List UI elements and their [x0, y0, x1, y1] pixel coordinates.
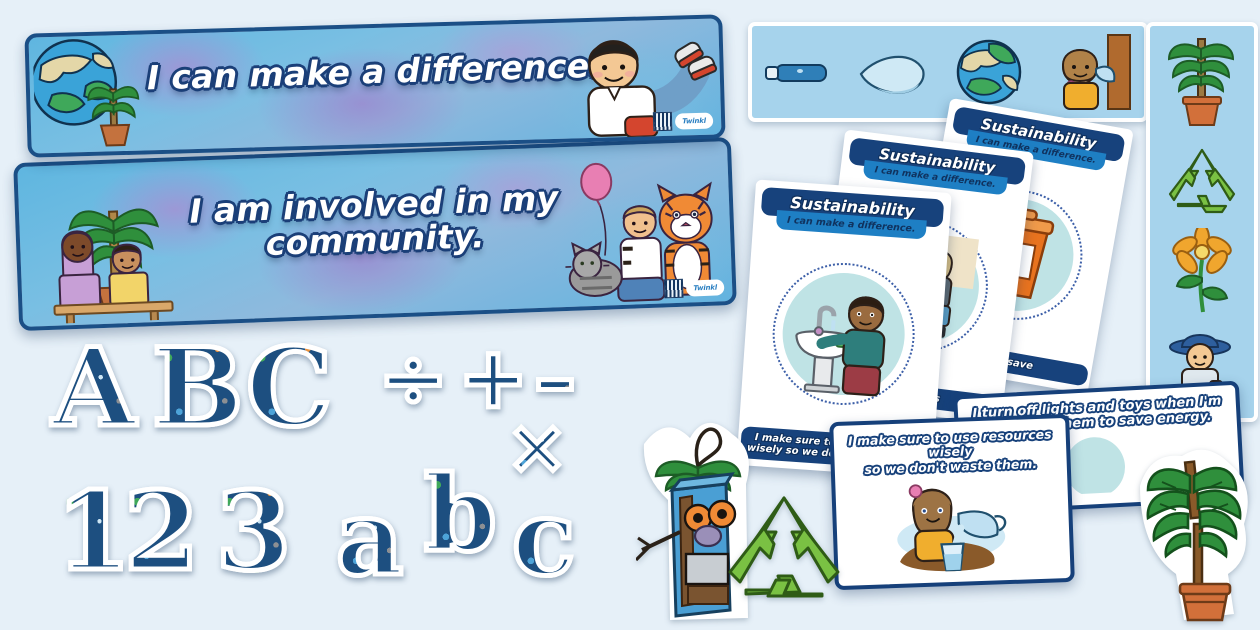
- letter-tile-c-lower[interactable]: c c: [512, 486, 575, 590]
- twinkl-branding-one: Twinkl: [653, 111, 714, 132]
- letter-tile-b-lower[interactable]: b b: [424, 462, 497, 566]
- twinkl-logo: Twinkl: [686, 279, 725, 296]
- girl-pouring-water-icon: [1046, 33, 1132, 111]
- letter-tile-C[interactable]: C C: [246, 334, 332, 442]
- qr-code-icon: [653, 112, 673, 132]
- banner-difference[interactable]: I can make a difference.: [24, 14, 725, 157]
- earth-globe-icon: [955, 38, 1023, 106]
- yellow-flower-icon: [1167, 228, 1237, 314]
- banner-community[interactable]: I am involved in my community.: [13, 137, 737, 331]
- symbol-tile-multiply[interactable]: × ×: [506, 410, 568, 484]
- twinkl-logo: Twinkl: [675, 112, 713, 129]
- display-canvas: I am involved in my community.: [0, 0, 1260, 630]
- water-droplet-icon: [857, 44, 931, 100]
- poster-artwork: [739, 227, 948, 439]
- symbol-tile-divide[interactable]: ÷ ÷: [378, 336, 448, 420]
- girl-pouring-water-spill-icon: [865, 471, 1037, 581]
- potted-plant-icon: [1163, 33, 1241, 129]
- water-bottle-icon: [764, 52, 834, 92]
- letter-tile-a-lower[interactable]: a a: [336, 486, 403, 590]
- letter-tile-B[interactable]: B B: [152, 334, 243, 442]
- monstera-plant-icon[interactable]: [1132, 438, 1258, 626]
- statement-card-resources[interactable]: I make sure to use resources wisely so w…: [829, 414, 1075, 590]
- number-tile-1[interactable]: 1 1: [56, 478, 131, 586]
- statement-card-resources-artwork: [835, 474, 1070, 586]
- display-border-strip-vertical[interactable]: [1146, 22, 1258, 422]
- letter-tile-A[interactable]: A A: [52, 334, 136, 442]
- number-tile-3[interactable]: 3 3: [216, 478, 291, 586]
- qr-code-icon: [664, 279, 684, 299]
- twinkl-branding: Twinkl: [664, 277, 725, 298]
- recycling-symbol-icon[interactable]: [724, 490, 844, 602]
- recycling-symbol-icon: [1164, 144, 1240, 214]
- boy-washing-hands-at-sink-icon: [779, 268, 909, 398]
- number-tile-2[interactable]: 2 2: [124, 478, 199, 586]
